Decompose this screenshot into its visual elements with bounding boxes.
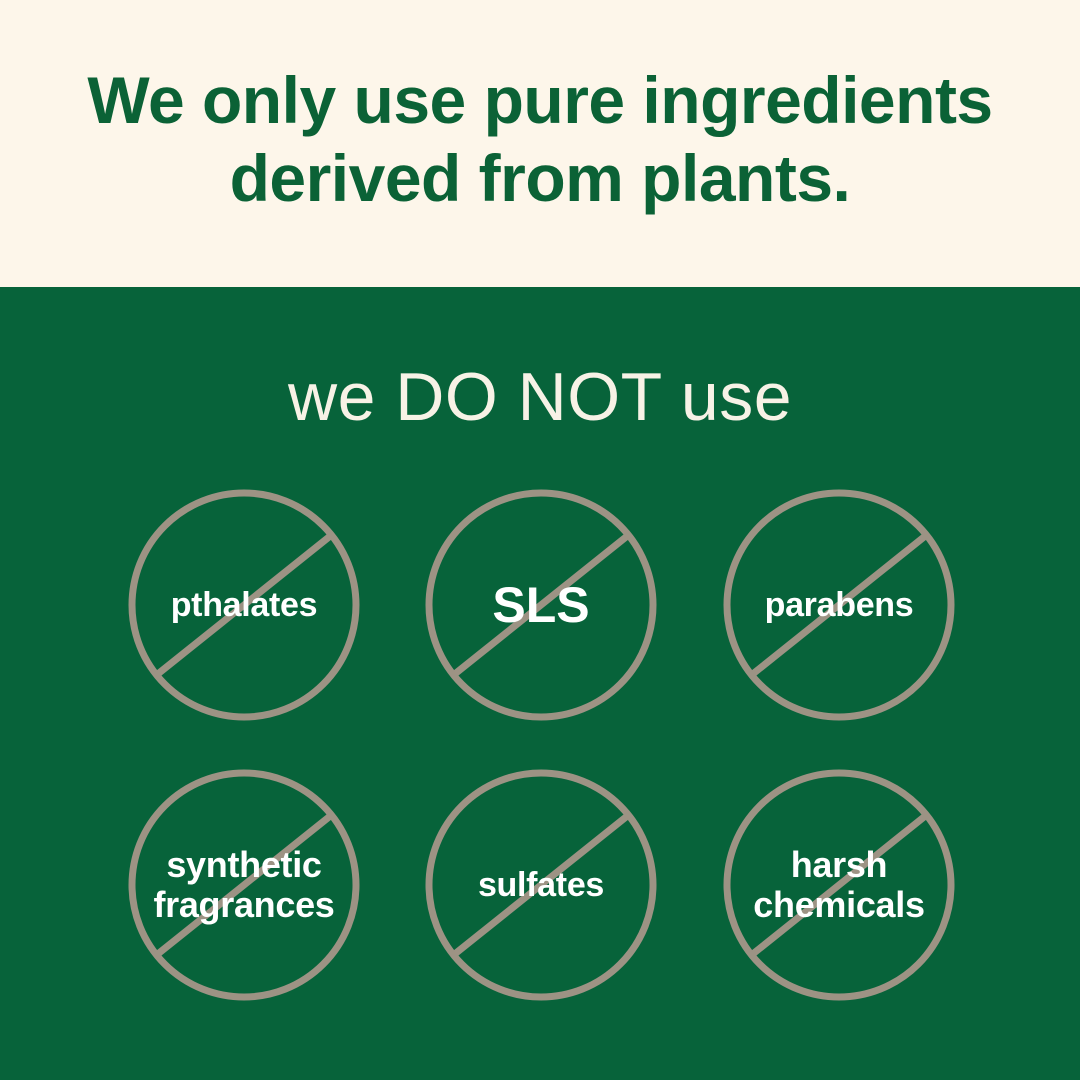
no-entry-icon [128,489,360,721]
header-band: We only use pure ingredients derived fro… [0,0,1080,287]
badge-sulfates: sulfates [425,769,657,1001]
badge-synthetic-fragrances: synthetic fragrances [128,769,360,1001]
no-entry-icon [425,769,657,1001]
no-entry-icon [723,489,955,721]
page-title: We only use pure ingredients derived fro… [87,62,992,216]
section-subtitle: we DO NOT use [0,363,1080,431]
no-entry-icon [425,489,657,721]
badge-sls: SLS [425,489,657,721]
badge-pthalates: pthalates [128,489,360,721]
poster-root: We only use pure ingredients derived fro… [0,0,1080,1080]
no-entry-icon [128,769,360,1001]
body-band: we DO NOT use pthalates SLS [0,287,1080,1080]
no-entry-icon [723,769,955,1001]
excluded-ingredients-grid: pthalates SLS parabens [0,489,1080,1049]
badge-harsh-chemicals: harsh chemicals [723,769,955,1001]
badge-parabens: parabens [723,489,955,721]
